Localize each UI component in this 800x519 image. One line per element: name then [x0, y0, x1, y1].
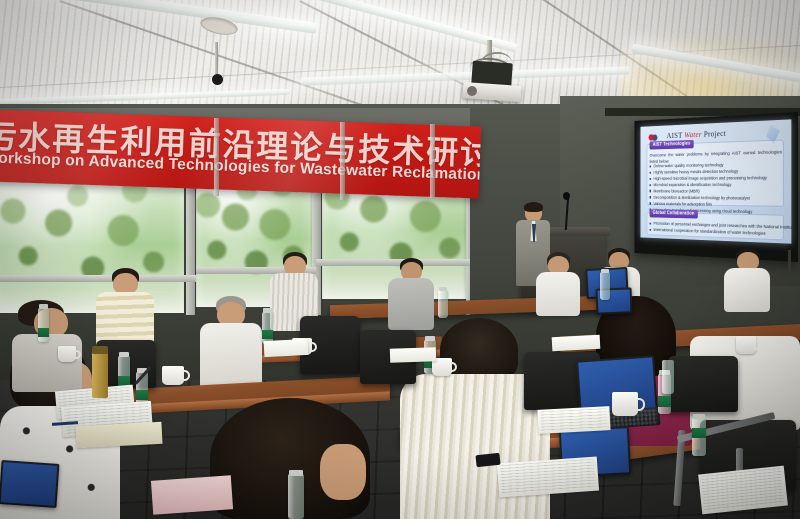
attendee-torso	[12, 334, 82, 392]
mobile-phone[interactable]	[475, 453, 500, 467]
slide-bullet-list: Online water quality monitoring technolo…	[650, 161, 784, 216]
bottle-cap	[693, 414, 705, 419]
coffee-mug[interactable]	[58, 346, 76, 362]
pink-paper[interactable]	[151, 475, 233, 514]
bottle-cap	[425, 336, 435, 341]
bottle-cap	[601, 269, 609, 273]
screen-leg	[788, 250, 791, 276]
bottle-label	[136, 390, 148, 400]
slide-title-suffix: Project	[702, 128, 726, 138]
handout-paper[interactable]	[390, 347, 436, 363]
attendee-left-man-glasses	[200, 296, 262, 388]
slide-title-accent: Water	[684, 129, 702, 139]
ceiling-speaker-icon	[212, 74, 223, 85]
microphone-icon	[563, 192, 570, 200]
presenter-hair	[524, 202, 543, 212]
speaker-rod	[215, 42, 218, 76]
projection-screen: AIST Water Project AIST Technologies Ove…	[635, 112, 798, 262]
laptop-display	[1, 462, 58, 506]
bottle-cap	[289, 470, 303, 476]
thermos-flask[interactable]	[92, 352, 108, 398]
slide-tag-global-collaboration: Global Collaboration	[650, 209, 698, 218]
bottle-cap	[39, 304, 48, 309]
bottle-label	[262, 330, 273, 339]
handout-paper[interactable]	[497, 457, 599, 498]
attendee-head	[320, 444, 366, 500]
paper-lines	[500, 459, 596, 495]
slide-title: AIST Water Project	[667, 128, 726, 140]
water-bottle[interactable]	[262, 312, 273, 344]
handout-paper[interactable]	[552, 335, 601, 351]
attendee-white-shirt-back	[536, 252, 580, 314]
banner-support-pole	[430, 124, 435, 198]
bottle-label	[692, 428, 706, 438]
handout-paper[interactable]	[75, 422, 162, 448]
coffee-mug[interactable]	[162, 366, 184, 385]
bottle-cap	[119, 352, 129, 357]
presentation-slide: AIST Water Project AIST Technologies Ove…	[641, 119, 792, 243]
paper-lines	[701, 468, 784, 512]
coffee-mug[interactable]	[736, 336, 756, 354]
thermos-cap	[92, 346, 108, 354]
projector-lens-icon	[467, 86, 477, 96]
slide-title-prefix: AIST	[667, 130, 685, 140]
slide-tag-aist-technologies: AIST Technologies	[650, 140, 694, 149]
handout-paper[interactable]	[537, 406, 610, 434]
conference-room-photo: ceiling-mounted data projector daylight …	[0, 0, 800, 519]
bottle-cap	[439, 287, 447, 291]
water-bottle[interactable]	[600, 272, 610, 300]
water-bottle[interactable]	[438, 290, 448, 318]
attendee-torso	[200, 323, 262, 389]
coffee-mug[interactable]	[612, 392, 638, 416]
banner-support-pole	[214, 118, 219, 196]
laptop-lid	[0, 460, 59, 508]
water-bottle[interactable]	[662, 360, 674, 394]
bottle-cap	[263, 308, 272, 313]
water-bottle[interactable]	[288, 474, 304, 519]
chair[interactable]	[668, 356, 738, 412]
banner-support-pole	[340, 122, 345, 200]
paper-lines	[541, 408, 608, 431]
attendee-torso	[536, 272, 580, 316]
handout-paper[interactable]	[264, 339, 309, 357]
bottle-label	[38, 328, 49, 337]
bottle-label	[658, 396, 671, 407]
